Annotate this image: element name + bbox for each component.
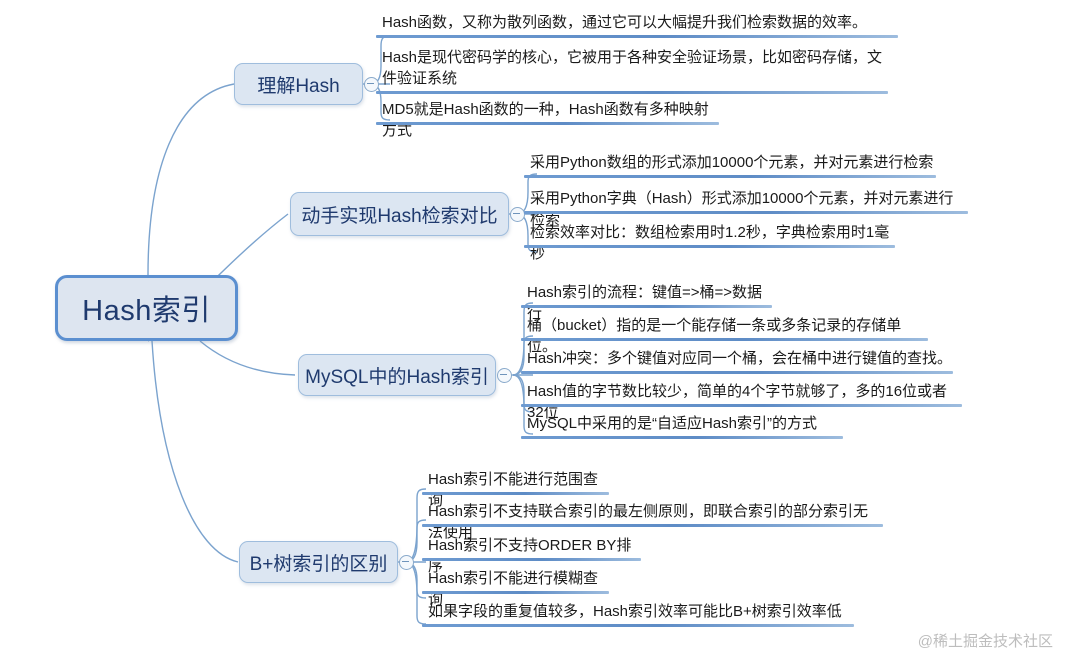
branch-node-label: 动手实现Hash检索对比 [301,201,497,228]
branch-node-btree-index-difference[interactable]: B+树索引的区别 [239,541,398,583]
leaf-item[interactable]: Hash索引不能进行范围查询 [422,469,609,495]
leaf-underline [524,245,895,248]
leaf-underline [422,524,883,527]
leaf-underline [524,211,968,214]
leaf-underline [521,371,953,374]
leaf-item[interactable]: MySQL中采用的是“自适应Hash索引”的方式 [521,413,843,439]
leaf-item[interactable]: Hash值的字节数比较少，简单的4个字节就够了，多的16位或者32位 [521,381,962,407]
leaf-text: Hash冲突：多个键值对应同一个桶，会在桶中进行键值的查找。 [527,350,952,367]
leaf-underline [422,558,641,561]
leaf-item[interactable]: 采用Python数组的形式添加10000个元素，并对元素进行检索 [524,152,936,178]
leaf-item[interactable]: 桶（bucket）指的是一个能存储一条或多条记录的存储单位。 [521,315,928,341]
branch-node-label: 理解Hash [257,71,339,98]
collapse-minus-icon[interactable] [497,368,512,383]
branch-node-understand-hash[interactable]: 理解Hash [234,63,363,105]
collapse-minus-icon[interactable] [399,555,414,570]
leaf-text: 采用Python数组的形式添加10000个元素，并对元素进行检索 [530,154,933,171]
leaf-underline [376,122,719,125]
collapse-minus-icon[interactable] [510,207,525,222]
leaf-underline [521,404,962,407]
leaf-underline [521,305,772,308]
root-node-label: Hash索引 [82,287,211,329]
leaf-underline [376,35,898,38]
leaf-text: Hash函数，又称为散列函数，通过它可以大幅提升我们检索数据的效率。 [382,14,867,31]
watermark: @稀土掘金技术社区 [918,630,1053,651]
leaf-underline [524,175,936,178]
branch-node-mysql-hash-index[interactable]: MySQL中的Hash索引 [298,354,496,396]
leaf-item[interactable]: MD5就是Hash函数的一种，Hash函数有多种映射方式 [376,99,719,125]
leaf-underline [422,624,854,627]
leaf-item[interactable]: Hash函数，又称为散列函数，通过它可以大幅提升我们检索数据的效率。 [376,12,898,38]
leaf-item[interactable]: 采用Python字典（Hash）形式添加10000个元素，并对元素进行检索 [524,188,968,214]
leaf-item[interactable]: Hash索引不支持ORDER BY排序 [422,535,641,561]
mindmap-canvas: Hash索引 理解Hash Hash函数，又称为散列函数，通过它可以大幅提升我们… [0,0,1075,669]
leaf-text: 如果字段的重复值较多，Hash索引效率可能比B+树索引效率低 [428,603,842,620]
leaf-text: MySQL中采用的是“自适应Hash索引”的方式 [527,415,817,432]
leaf-item[interactable]: Hash索引不能进行模糊查询 [422,568,609,594]
leaf-text: 检索效率对比：数组检索用时1.2秒，字典检索用时1毫秒 [530,224,889,262]
leaf-item[interactable]: Hash是现代密码学的核心，它被用于各种安全验证场景，比如密码存储，文件验证系统 [376,47,888,94]
leaf-text: Hash是现代密码学的核心，它被用于各种安全验证场景，比如密码存储，文件验证系统 [382,49,882,87]
leaf-underline [521,338,928,341]
branch-node-label: B+树索引的区别 [250,549,388,576]
leaf-underline [521,436,843,439]
leaf-underline [376,91,888,94]
leaf-underline [422,591,609,594]
leaf-item[interactable]: Hash索引的流程：键值=>桶=>数据行 [521,282,772,308]
leaf-underline [422,492,609,495]
leaf-item[interactable]: 检索效率对比：数组检索用时1.2秒，字典检索用时1毫秒 [524,222,895,248]
leaf-item[interactable]: 如果字段的重复值较多，Hash索引效率可能比B+树索引效率低 [422,601,854,627]
branch-node-label: MySQL中的Hash索引 [305,362,489,389]
root-node[interactable]: Hash索引 [55,275,238,341]
leaf-item[interactable]: Hash索引不支持联合索引的最左侧原则，即联合索引的部分索引无法使用 [422,501,883,527]
branch-node-hash-retrieval-comparison[interactable]: 动手实现Hash检索对比 [290,192,509,236]
leaf-text: MD5就是Hash函数的一种，Hash函数有多种映射方式 [382,101,709,139]
leaf-item[interactable]: Hash冲突：多个键值对应同一个桶，会在桶中进行键值的查找。 [521,348,953,374]
